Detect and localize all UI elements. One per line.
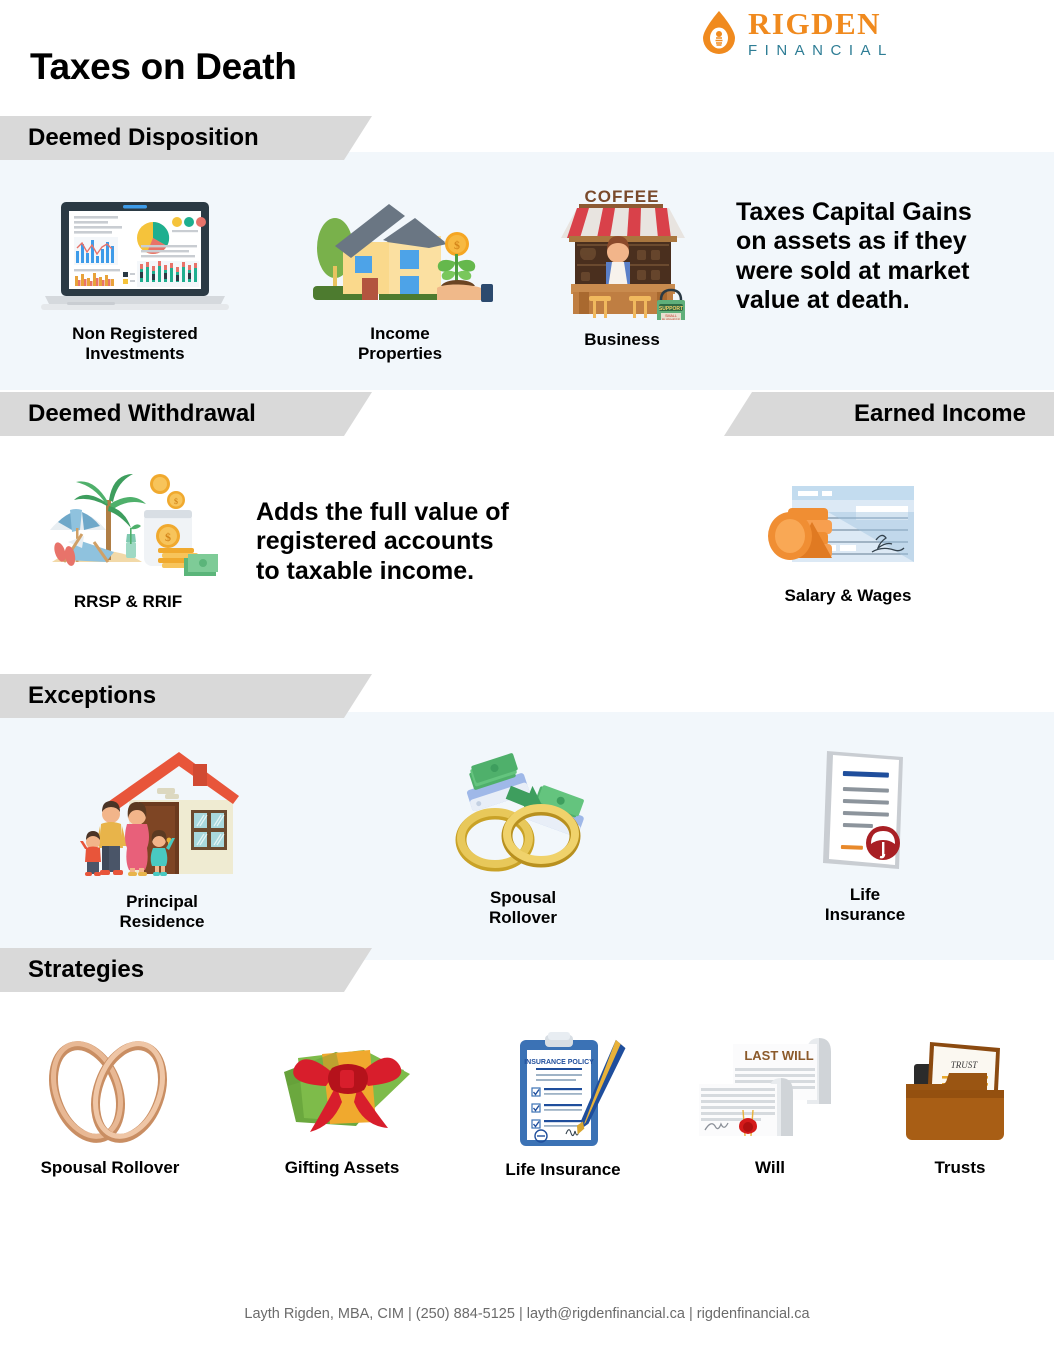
logo-main-text: RIGDEN — [748, 8, 894, 39]
section-banner-exceptions: Exceptions — [0, 674, 372, 718]
item-caption: Spousal Rollover — [489, 888, 557, 927]
laptop-dashboard-icon — [41, 196, 229, 314]
cheque-with-coins-icon — [768, 478, 928, 576]
water-drop-logo-icon — [700, 10, 738, 56]
banner-label: Deemed Withdrawal — [28, 400, 256, 428]
coffee-stand-business-icon: COFFEE — [553, 180, 691, 320]
item-caption: Trusts — [934, 1158, 985, 1178]
insurance-policy-header-text: INSURANCE POLICY — [524, 1059, 594, 1066]
banner-label: Deemed Disposition — [28, 124, 259, 152]
item-gifting-assets: Gifting Assets — [262, 1030, 422, 1178]
support-badge-text: SUPPORT — [659, 306, 683, 312]
item-non-registered-investments: Non Registered Investments — [35, 196, 235, 363]
section-banner-earned-income: Earned Income — [724, 392, 1054, 436]
item-rrsp-rrif: $ $ RRSP & RRIF — [38, 470, 218, 612]
last-will-document-icon: LAST WILL — [691, 1030, 849, 1148]
house-with-money-plant-icon: $ — [305, 196, 495, 314]
insurance-policy-clipboard-icon: INSURANCE POLICY — [496, 1030, 630, 1150]
item-caption: Business — [584, 330, 660, 350]
item-business: COFFEE — [552, 180, 692, 350]
brand-logo: RIGDEN FINANCIAL — [700, 8, 894, 58]
svg-text:$: $ — [174, 497, 178, 506]
item-will: LAST WILL Will — [690, 1030, 850, 1178]
logo-sub-text: FINANCIAL — [748, 43, 894, 58]
item-income-properties: $ Income Properties — [300, 196, 500, 363]
item-caption: Non Registered Investments — [72, 324, 198, 363]
item-spousal-rollover-exception: Spousal Rollover — [448, 750, 598, 927]
footer-contact: Layth Rigden, MBA, CIM | (250) 884-5125 … — [0, 1306, 1054, 1322]
banner-label: Exceptions — [28, 682, 156, 710]
svg-text:$: $ — [454, 238, 460, 252]
section-banner-deemed-withdrawal: Deemed Withdrawal — [0, 392, 372, 436]
insurance-document-umbrella-icon — [805, 745, 925, 875]
item-caption: RRSP & RRIF — [74, 592, 182, 612]
item-life-insurance-exception: Life Insurance — [800, 745, 930, 924]
trust-header-text: TRUST — [951, 1060, 979, 1070]
wedding-rings-money-transfer-icon — [449, 750, 597, 878]
section-banner-deemed-disposition: Deemed Disposition — [0, 116, 372, 160]
banner-label: Strategies — [28, 956, 144, 984]
family-home-icon — [73, 748, 251, 882]
last-will-header-text: LAST WILL — [744, 1048, 813, 1063]
item-spousal-rollover-strategy: Spousal Rollover — [30, 1030, 190, 1178]
section-banner-strategies: Strategies — [0, 948, 372, 992]
beach-retirement-savings-icon: $ $ — [38, 470, 218, 582]
banner-label: Earned Income — [854, 400, 1026, 428]
infographic-page: RIGDEN FINANCIAL Taxes on Death Deemed D… — [0, 0, 1054, 1364]
coffee-sign-text: COFFEE — [585, 187, 660, 206]
callout-deemed-withdrawal: Adds the full value of registered accoun… — [256, 498, 586, 586]
logo-wordmark: RIGDEN FINANCIAL — [748, 8, 894, 58]
callout-deemed-disposition: Taxes Capital Gains on assets as if they… — [736, 198, 1036, 315]
trust-folder-icon: TRUST — [892, 1030, 1028, 1148]
item-caption: Principal Residence — [119, 892, 204, 931]
item-salary-wages: Salary & Wages — [768, 478, 928, 606]
interlocking-rings-icon — [31, 1030, 189, 1148]
item-caption: Life Insurance — [505, 1160, 620, 1180]
item-caption: Spousal Rollover — [41, 1158, 180, 1178]
item-caption: Salary & Wages — [785, 586, 912, 606]
item-trusts: TRUST Trusts — [890, 1030, 1030, 1178]
gift-box-money-icon — [264, 1030, 420, 1148]
page-title: Taxes on Death — [30, 46, 297, 88]
item-principal-residence: Principal Residence — [72, 748, 252, 931]
item-caption: Gifting Assets — [285, 1158, 400, 1178]
item-caption: Income Properties — [358, 324, 442, 363]
svg-text:BUSINESS: BUSINESS — [662, 318, 681, 320]
item-caption: Life Insurance — [825, 885, 905, 924]
svg-text:$: $ — [165, 530, 171, 544]
item-caption: Will — [755, 1158, 785, 1178]
item-life-insurance-strategy: INSURANCE POLICY — [488, 1030, 638, 1180]
